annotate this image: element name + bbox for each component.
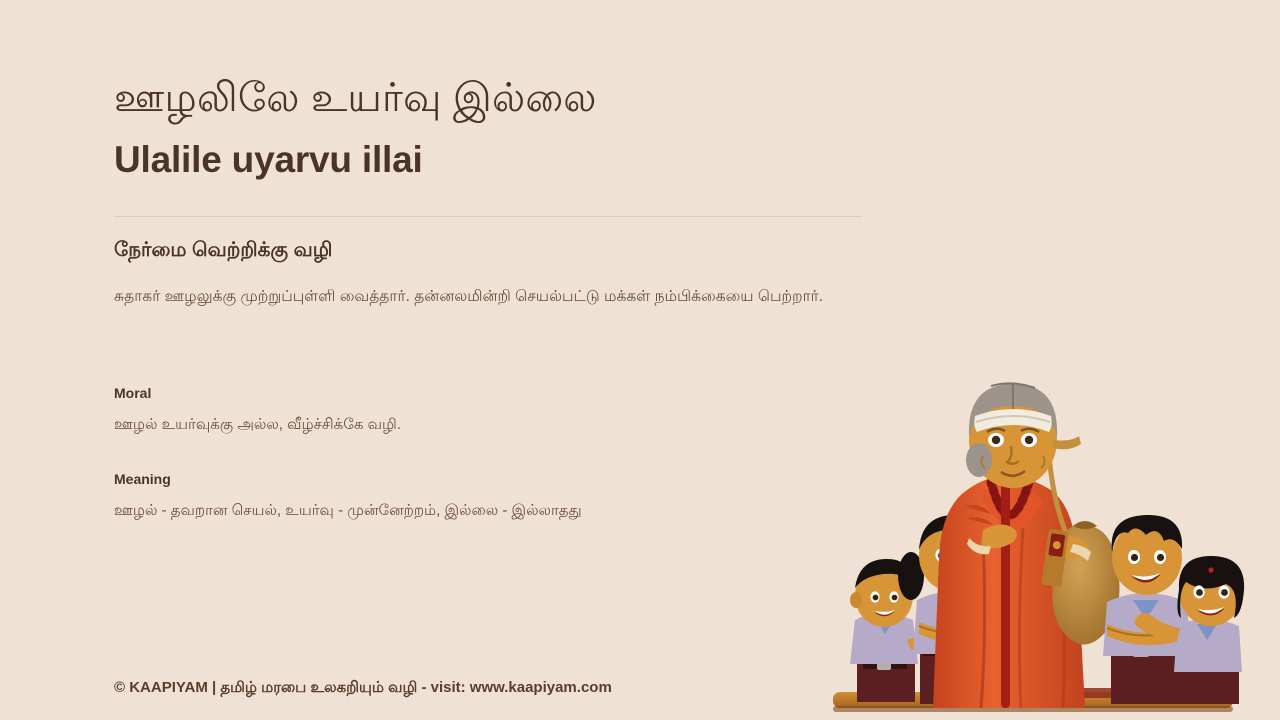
footer-credit: © KAAPIYAM | தமிழ் மரபை உலகறியும் வழி - … — [114, 679, 612, 698]
elder-with-schoolchildren-illustration — [815, 378, 1280, 720]
story-heading: நேர்மை வெற்றிக்கு வழி — [114, 239, 332, 264]
text-content-column: ஊழலிலே உயர்வு இல்லை Ulalile uyarvu illai… — [114, 0, 874, 720]
elder-figure — [933, 383, 1120, 708]
story-body-text: சுதாகர் ஊழலுக்கு முற்றுப்புள்ளி வைத்தார்… — [114, 285, 856, 309]
moral-label: Moral — [114, 385, 151, 401]
page-title-tamil: ஊழலிலே உயர்வு இல்லை — [114, 75, 597, 121]
meaning-label: Meaning — [114, 471, 171, 487]
meaning-text: ஊழல் - தவறான செயல், உயர்வு - முன்னேற்றம்… — [114, 500, 582, 522]
page-title-transliteration: Ulalile uyarvu illai — [114, 138, 423, 182]
moral-text: ஊழல் உயர்வுக்கு அல்ல, வீழ்ச்சிக்கே வழி. — [114, 414, 401, 436]
header-divider — [114, 216, 862, 217]
